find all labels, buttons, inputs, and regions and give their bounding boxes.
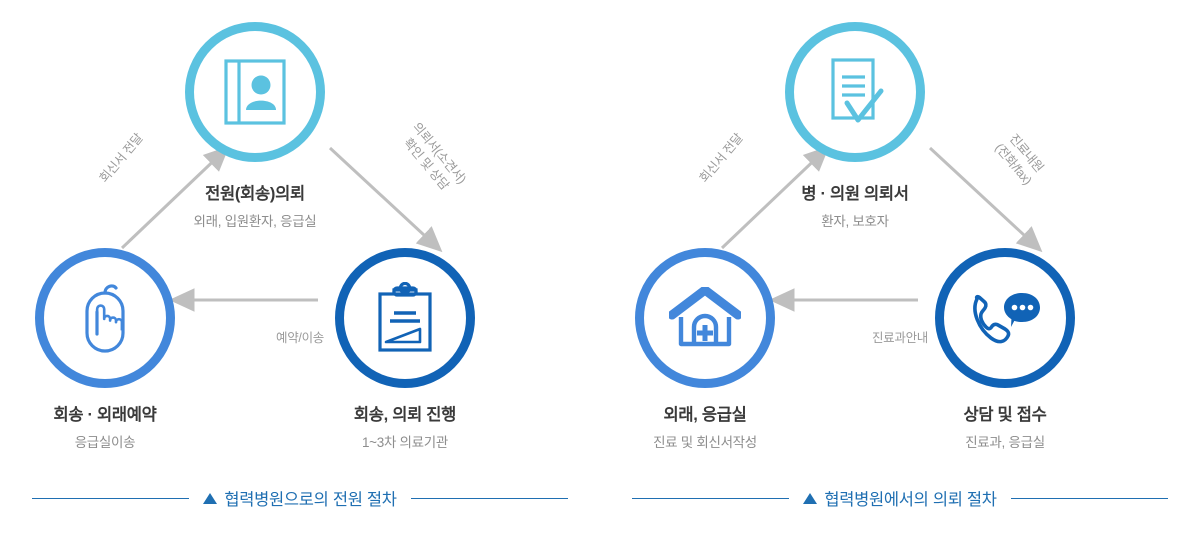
caption-label: 협력병원으로의 전원 절차	[224, 486, 396, 510]
edge-label-reply-delivery: 회신서 전달	[96, 130, 147, 186]
node-circle	[785, 22, 925, 162]
node-subtitle: 진료 및 회신서작성	[625, 431, 785, 451]
edge-label-department-guide: 진료과안내	[805, 330, 995, 347]
hospital-house-icon	[669, 287, 741, 349]
triangle-marker-icon	[203, 493, 217, 504]
node-circle	[935, 248, 1075, 388]
caption-text-referral: 협력병원에서의 의뢰 절차	[803, 486, 996, 510]
document-check-icon	[825, 57, 885, 127]
node-transfer-in-progress[interactable]: 회송, 의뢰 진행 1~3차 의료기관	[325, 248, 485, 451]
edge-label-line1: 회신서 전달	[96, 130, 147, 186]
node-subtitle: 환자, 보호자	[775, 210, 935, 230]
node-subtitle: 진료과, 응급실	[925, 431, 1085, 451]
node-circle	[335, 248, 475, 388]
edge-label-visit-phone-fax: 진료내원 (전화/fax)	[991, 129, 1048, 188]
node-title: 상담 및 접수	[925, 401, 1085, 425]
triangle-marker-icon	[803, 493, 817, 504]
node-clinic-referral-letter[interactable]: 병 · 의원 의뢰서 환자, 보호자	[775, 22, 935, 230]
node-title: 전원(회송)의뢰	[175, 180, 335, 204]
node-circle	[635, 248, 775, 388]
caption-text-transfer: 협력병원으로의 전원 절차	[203, 486, 396, 510]
node-transfer-outpatient-booking[interactable]: 회송 · 외래예약 응급실이송	[25, 248, 185, 451]
edge-label-referral-confirm: 의뢰서(소견서) 확인 및 상담	[395, 119, 469, 198]
node-subtitle: 외래, 입원환자, 응급실	[175, 210, 335, 230]
node-consultation-reception[interactable]: 상담 및 접수 진료과, 응급실	[925, 248, 1085, 451]
node-title: 회송, 의뢰 진행	[325, 401, 485, 425]
mouse-click-hand-icon	[75, 282, 135, 354]
node-circle	[185, 22, 325, 162]
caption-label: 협력병원에서의 의뢰 절차	[824, 486, 996, 510]
process-group-referral: 병 · 의원 의뢰서 환자, 보호자 외래, 응급실 진료 및 회신서작성	[600, 0, 1200, 470]
edge-label-booking-transport: 예약/이송	[205, 330, 395, 347]
referral-process-diagram: 전원(회송)의뢰 외래, 입원환자, 응급실 회송 · 외래예약 응급실이송	[0, 0, 1200, 537]
caption-rule-right	[411, 498, 568, 499]
edge-label-reply-delivery: 회신서 전달	[696, 130, 747, 186]
node-outpatient-emergency[interactable]: 외래, 응급실 진료 및 회신서작성	[625, 248, 785, 451]
node-transfer-request[interactable]: 전원(회송)의뢰 외래, 입원환자, 응급실	[175, 22, 335, 230]
edge-label-line1: 진료과안내	[805, 330, 995, 347]
caption-rule-right	[1011, 498, 1168, 499]
caption-referral: 협력병원에서의 의뢰 절차	[600, 478, 1200, 518]
edge-label-line1: 회신서 전달	[696, 130, 747, 186]
caption-rule-left	[632, 498, 789, 499]
caption-transfer: 협력병원으로의 전원 절차	[0, 478, 600, 518]
node-title: 병 · 의원 의뢰서	[775, 180, 935, 204]
node-circle	[35, 248, 175, 388]
caption-row: 협력병원으로의 전원 절차 협력병원에서의 의뢰 절차	[0, 478, 1200, 518]
edge-label-line1: 예약/이송	[205, 330, 395, 347]
node-title: 회송 · 외래예약	[25, 401, 185, 425]
address-book-person-icon	[224, 59, 286, 125]
caption-rule-left	[32, 498, 189, 499]
node-subtitle: 응급실이송	[25, 431, 185, 451]
node-title: 외래, 응급실	[625, 401, 785, 425]
node-subtitle: 1~3차 의료기관	[325, 431, 485, 451]
process-group-transfer: 전원(회송)의뢰 외래, 입원환자, 응급실 회송 · 외래예약 응급실이송	[0, 0, 600, 470]
